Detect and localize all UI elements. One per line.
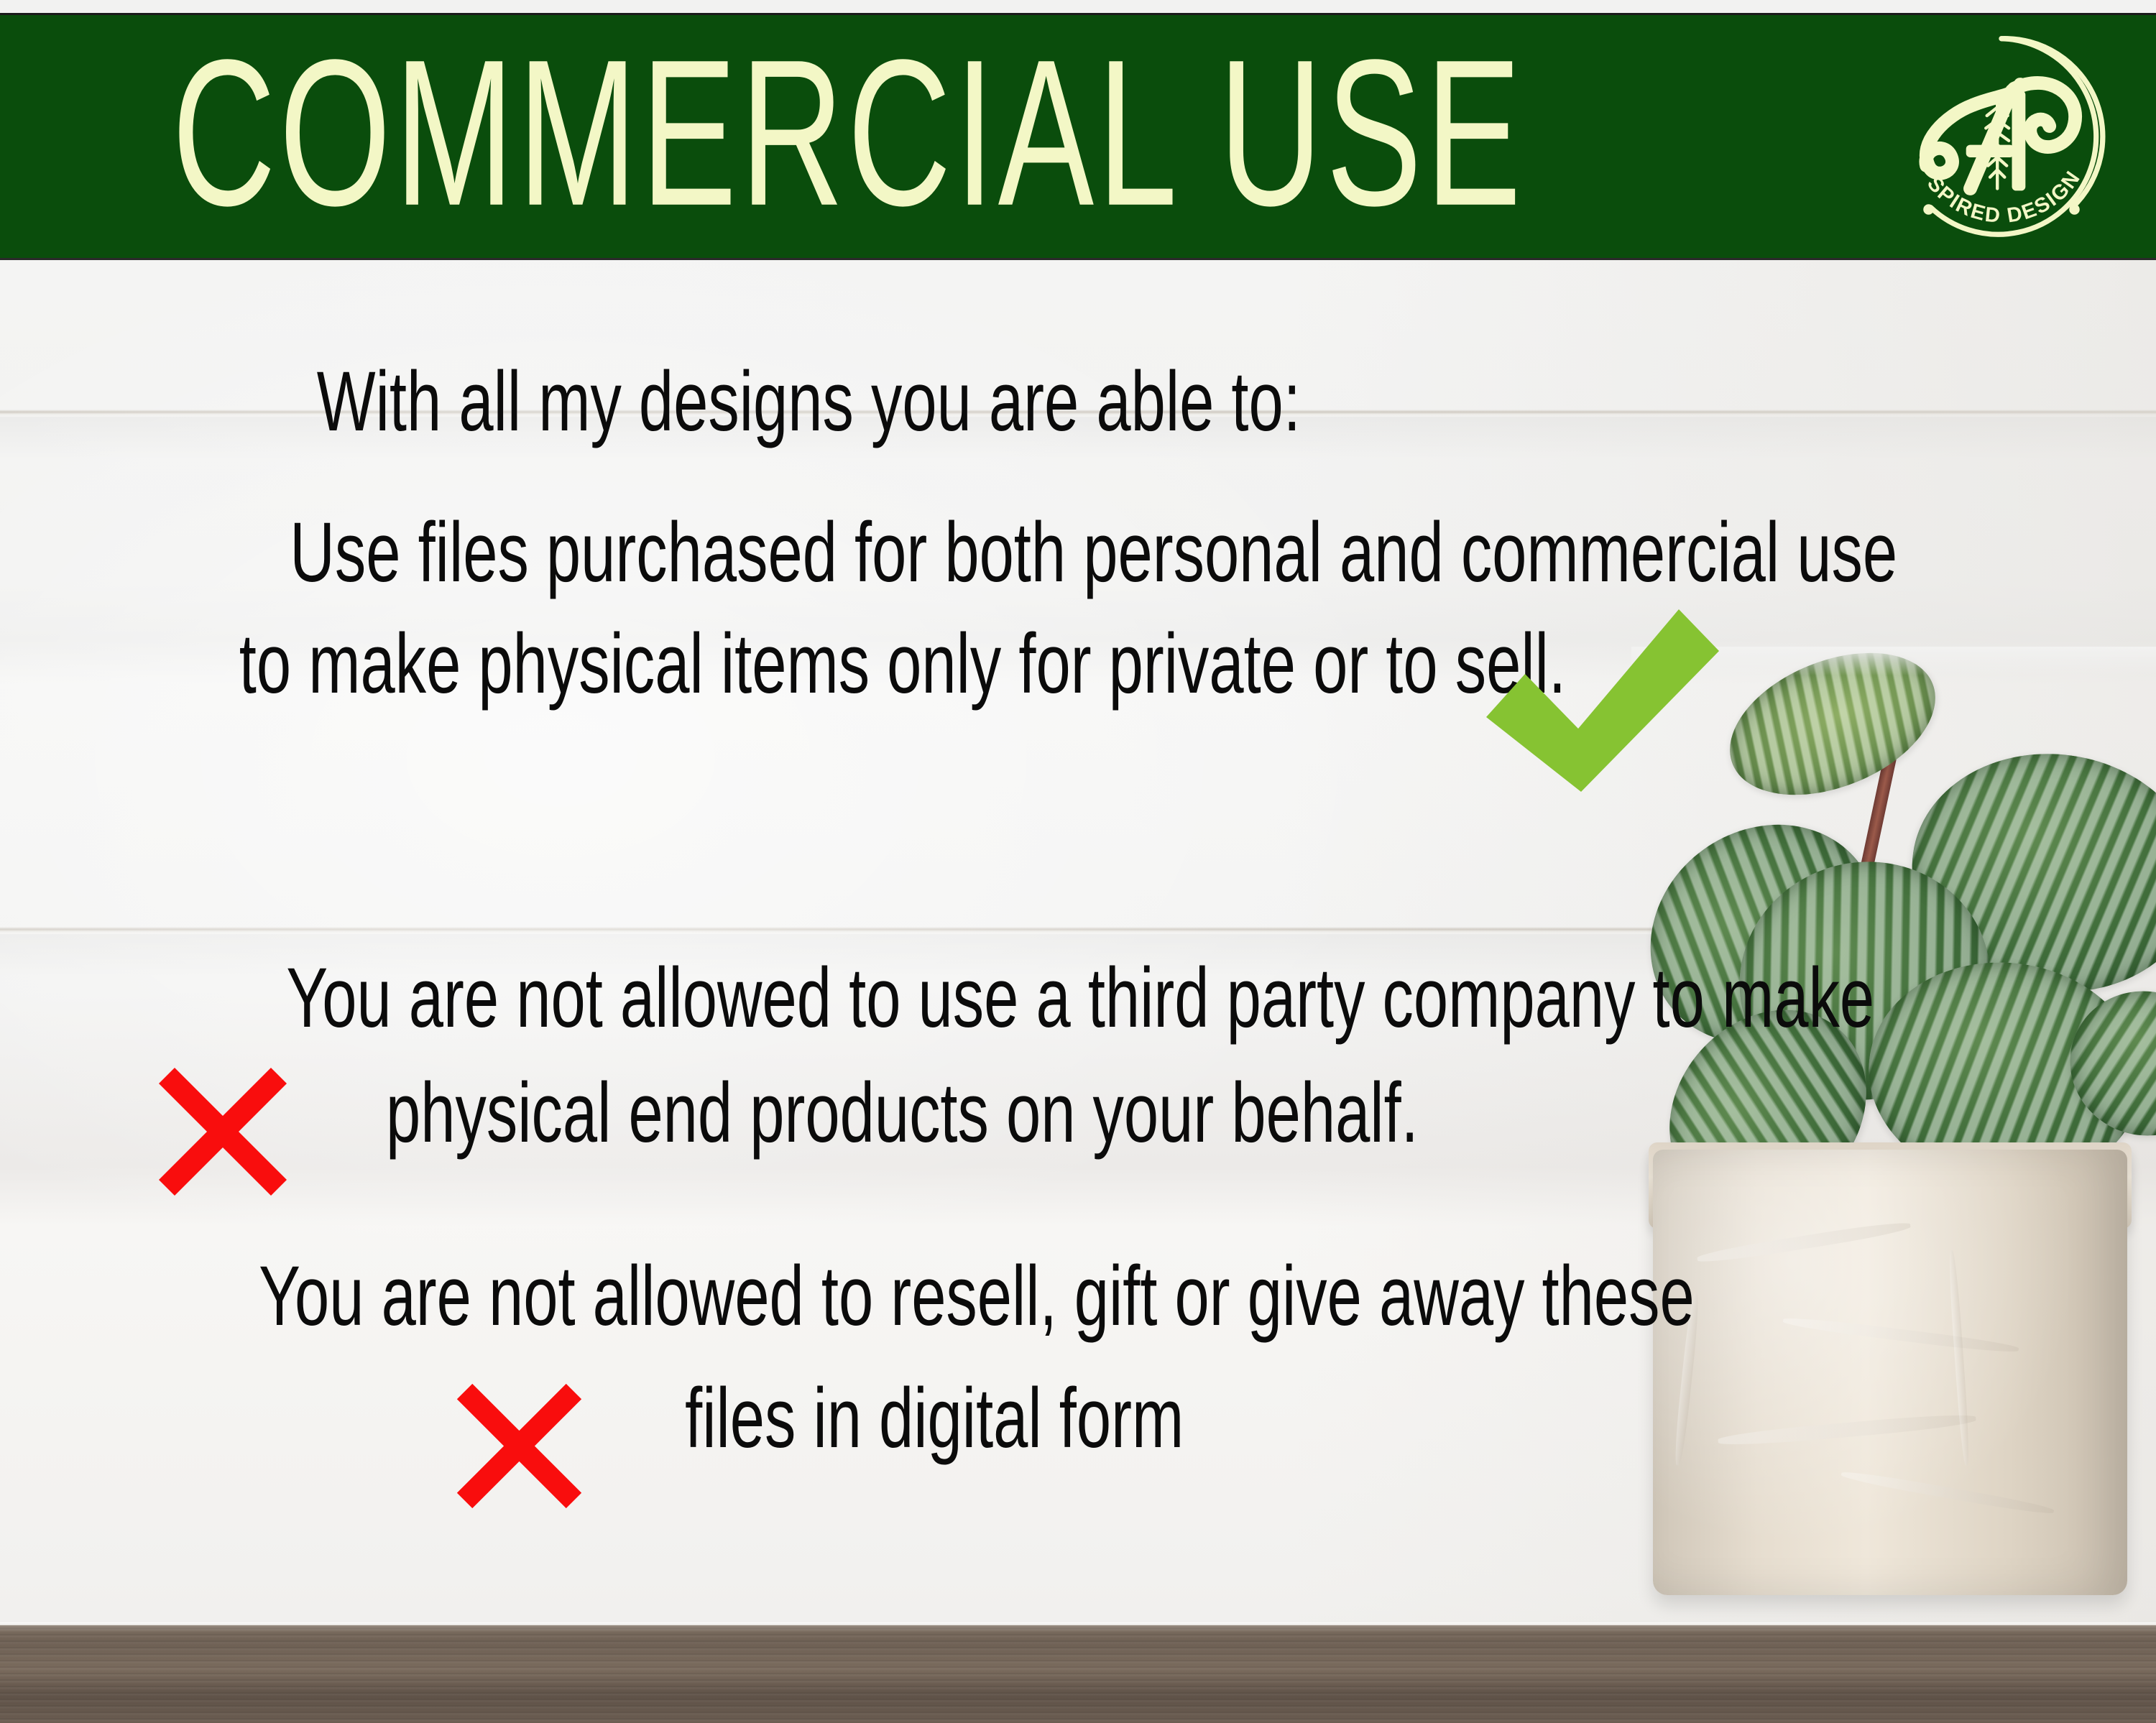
page-title-text: COMMERCIAL USE: [172, 29, 1524, 237]
pot-crease: [1782, 1315, 2019, 1355]
green-check-icon: [1480, 596, 1725, 798]
allowed-intro-line: With all my designs you are able to:: [0, 359, 1617, 444]
paper-pot: [1653, 1150, 2127, 1595]
commercial-use-infographic: COMMERCIAL USE: [0, 0, 2156, 1723]
allowed-line-2: to make physical items only for private …: [0, 622, 1617, 706]
ap-inspired-designs-logo: INSPIRED DESIGNS: [1897, 32, 2106, 241]
header-banner: COMMERCIAL USE: [0, 13, 2156, 260]
pot-crease: [1696, 1219, 1911, 1266]
not-allowed-line-1: You are not allowed to use a third party…: [0, 956, 1617, 1040]
pot-crease: [1841, 1469, 2055, 1517]
logo-svg: INSPIRED DESIGNS: [1897, 32, 2106, 241]
wood-shelf: [0, 1625, 2156, 1723]
not-allowed-line-2: physical end products on your behalf.: [93, 1071, 1710, 1155]
red-x-icon: [453, 1380, 586, 1512]
allowed-line-1: Use files purchased for both personal an…: [0, 510, 1617, 595]
not-allowed-line-4: files in digital form: [126, 1376, 1743, 1461]
page-title: COMMERCIAL USE: [0, 43, 1696, 223]
red-x-icon: [155, 1063, 291, 1200]
pot-crease: [1718, 1411, 1976, 1448]
pot-crease: [1948, 1250, 1971, 1466]
not-allowed-line-3: You are not allowed to resell, gift or g…: [0, 1254, 1617, 1339]
